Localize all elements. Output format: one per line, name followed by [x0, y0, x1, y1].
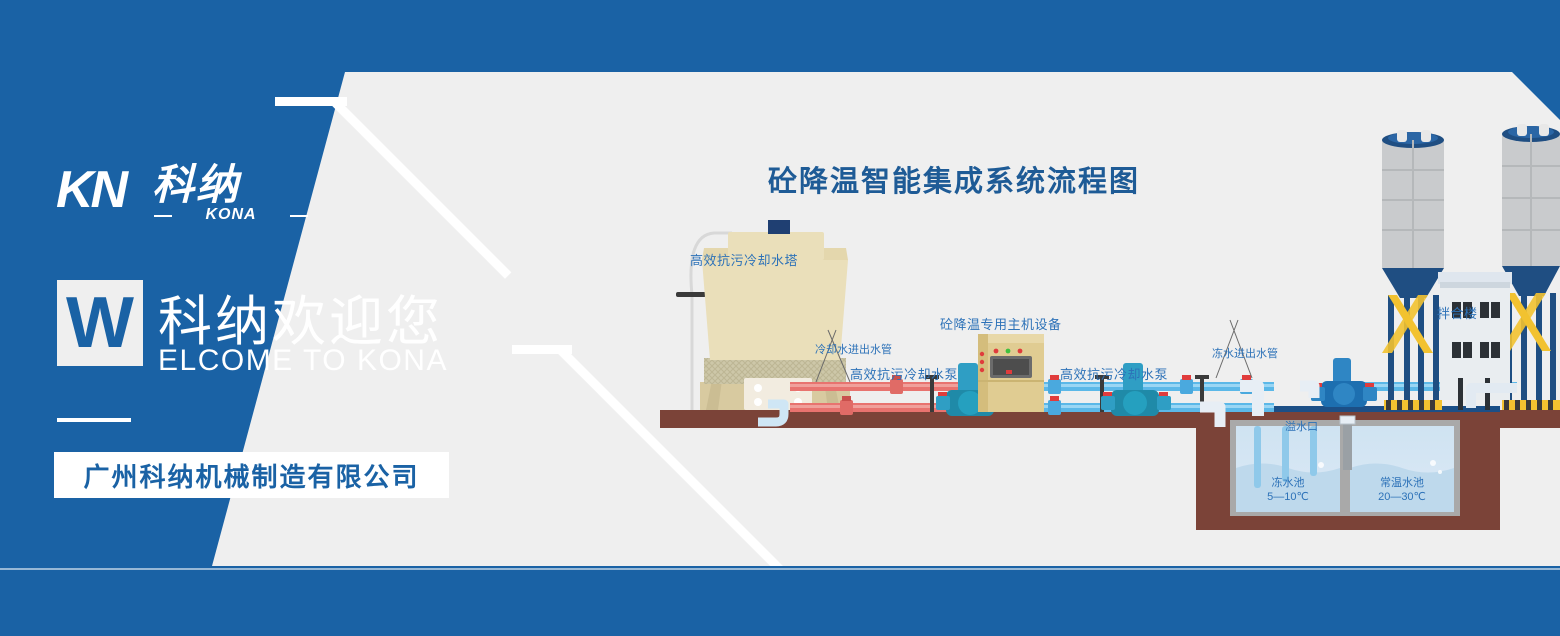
label-cooling-pump-left: 高效抗污冷却水泵 [850, 364, 958, 383]
w-letter: W [66, 287, 134, 359]
label-host-unit: 砼降温专用主机设备 [940, 314, 1062, 333]
label-mixing-plant: 拌合楼 [1437, 303, 1478, 322]
label-overflow-outlet: 溢水口 [1285, 418, 1318, 434]
w-letter-badge: W [57, 280, 143, 366]
logo-chinese-name: 科纳 [152, 162, 240, 208]
divider-rule [57, 418, 131, 422]
company-name: 广州科纳机械制造有限公司 [83, 457, 419, 494]
poster-canvas: KN 科纳 KONA W 科纳欢迎您 ELCOME TO KONA 广州科纳机械… [0, 0, 1560, 636]
pool-label-chilled: 冻水池 5—10℃ [1248, 474, 1328, 503]
process-flow-diagram: 砼降温智能集成系统流程图 [640, 120, 1560, 540]
label-cooling-tower: 高效抗污冷却水塔 [690, 250, 798, 269]
host-unit-cabinet [978, 334, 1044, 412]
brand-logo: KN 科纳 KONA [56, 162, 276, 228]
mixing-plant [1382, 124, 1560, 410]
pool-ambient-temp: 20—30℃ [1362, 490, 1442, 503]
pool-ambient-name: 常温水池 [1362, 474, 1442, 490]
label-cooling-pump-right: 高效抗污冷却水泵 [1060, 364, 1168, 383]
label-cooling-water-pipe: 冷却水进出水管 [815, 341, 892, 357]
pool-chilled-temp: 5—10℃ [1248, 490, 1328, 503]
pool-chilled-name: 冻水池 [1248, 474, 1328, 490]
label-chilled-water-pipe: 冻水进出水管 [1212, 345, 1278, 361]
pool-label-ambient: 常温水池 20—30℃ [1362, 474, 1442, 503]
logo-subtitle-kona: KONA [156, 206, 306, 224]
bottom-hairline [0, 568, 1560, 570]
welcome-headline-en: ELCOME TO KONA [158, 344, 448, 378]
logo-mark-kn: KN [56, 164, 125, 216]
bottom-blue-bar [0, 566, 1560, 636]
company-name-box: 广州科纳机械制造有限公司 [54, 452, 449, 498]
